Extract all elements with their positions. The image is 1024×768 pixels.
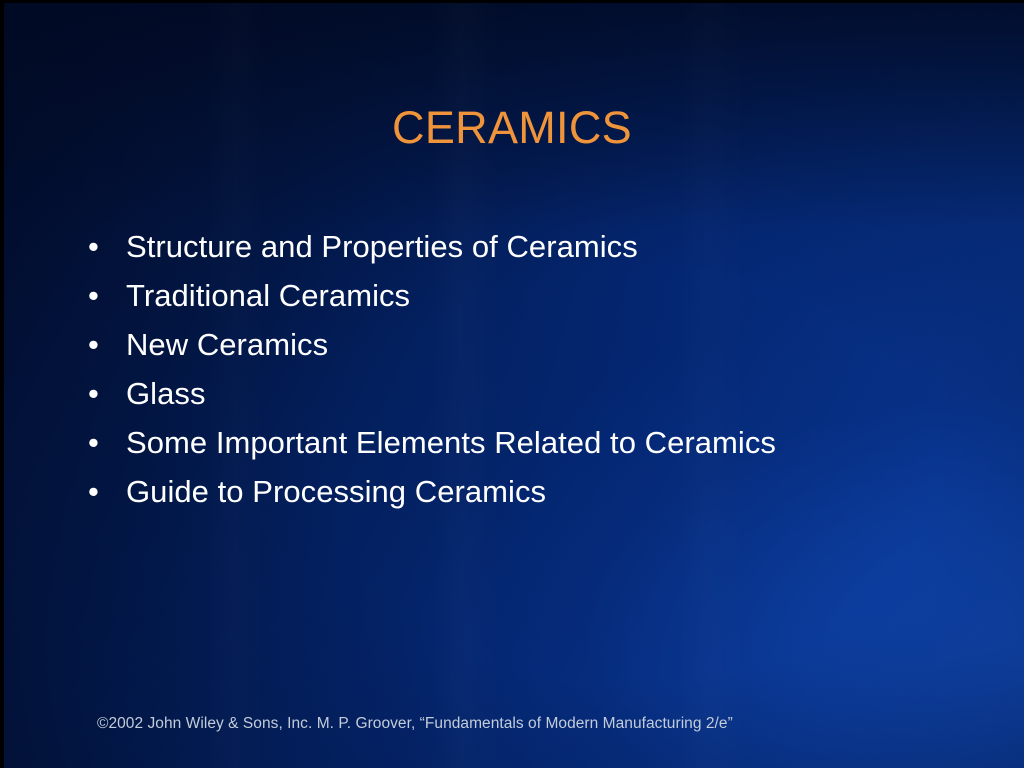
slide-title: CERAMICS [0,102,1024,154]
list-item-label: Guide to Processing Ceramics [126,474,546,510]
list-item-label: Glass [126,376,206,412]
bullet-point-icon: • [80,376,126,412]
list-item: • Glass [80,376,980,425]
bullet-point-icon: • [80,278,126,314]
presentation-slide: CERAMICS • Structure and Properties of C… [0,0,1024,768]
bullet-point-icon: • [80,425,126,461]
list-item: • Traditional Ceramics [80,278,980,327]
slide-border-top [0,0,1024,3]
list-item-label: Some Important Elements Related to Ceram… [126,425,776,461]
list-item: • New Ceramics [80,327,980,376]
list-item: • Some Important Elements Related to Cer… [80,425,980,474]
bullet-point-icon: • [80,327,126,363]
list-item-label: Traditional Ceramics [126,278,410,314]
bullet-point-icon: • [80,229,126,265]
list-item-label: New Ceramics [126,327,328,363]
bullet-list: • Structure and Properties of Ceramics •… [80,229,980,523]
slide-footer-copyright: ©2002 John Wiley & Sons, Inc. M. P. Groo… [97,714,733,734]
bullet-point-icon: • [80,474,126,510]
list-item: • Structure and Properties of Ceramics [80,229,980,278]
list-item: • Guide to Processing Ceramics [80,474,980,523]
list-item-label: Structure and Properties of Ceramics [126,229,638,265]
